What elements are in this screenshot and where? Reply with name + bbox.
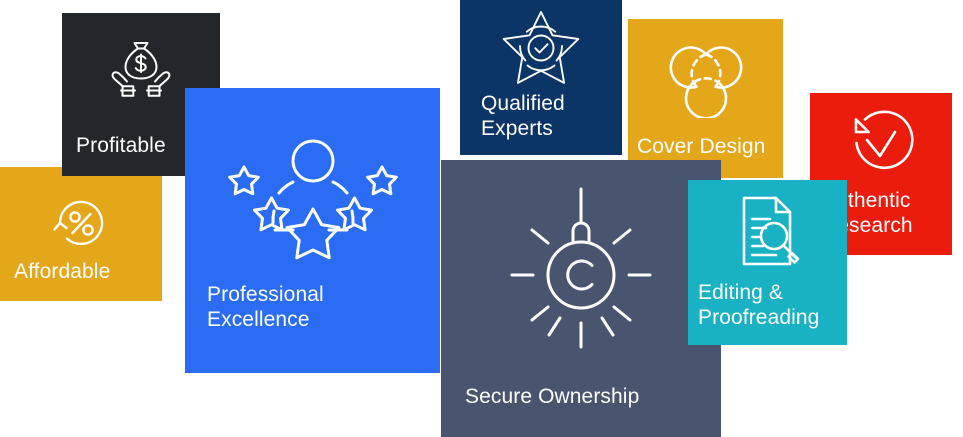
card-cover-design[interactable]: Cover Design <box>628 19 783 178</box>
three-overlapping-circles-icon <box>628 37 783 119</box>
circular-arrow-check-icon <box>810 105 952 185</box>
card-label-secure-ownership: Secure Ownership <box>441 385 639 437</box>
percent-refresh-icon <box>0 187 162 259</box>
card-editing-proofreading[interactable]: Editing & Proofreading <box>688 180 847 345</box>
card-label-professional-excellence: Professional Excellence <box>185 283 324 373</box>
feature-cards-collage: Affordable Profitable <box>0 0 963 437</box>
card-label-profitable: Profitable <box>62 134 166 176</box>
card-label-qualified-experts: Qualified Experts <box>460 92 565 155</box>
card-secure-ownership[interactable]: Secure Ownership <box>441 160 721 437</box>
card-label-editing-proofreading: Editing & Proofreading <box>688 281 819 345</box>
star-badge-check-icon <box>460 8 622 88</box>
copyright-bulb-icon <box>441 188 721 353</box>
document-magnifier-icon <box>688 192 847 270</box>
person-with-five-stars-icon <box>185 130 440 270</box>
card-affordable[interactable]: Affordable <box>0 167 162 301</box>
card-qualified-experts[interactable]: Qualified Experts <box>460 0 622 155</box>
card-label-affordable: Affordable <box>0 260 110 301</box>
card-professional-excellence[interactable]: Professional Excellence <box>185 88 440 373</box>
